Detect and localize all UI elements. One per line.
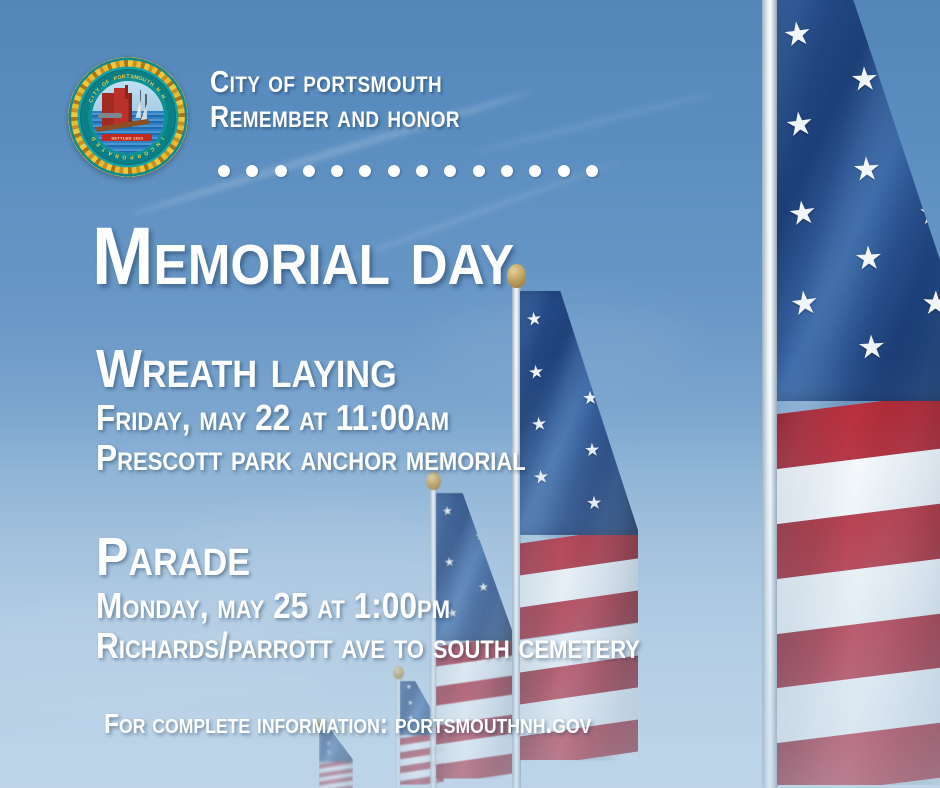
flag-stripes bbox=[777, 401, 940, 785]
flag-star: ★ bbox=[786, 196, 819, 232]
american-flag: ★★★★★★★★★★★★★★★★ bbox=[777, 0, 940, 785]
divider-dot bbox=[529, 165, 541, 177]
header-text-block: City of portsmouth remember and honor bbox=[210, 64, 630, 134]
header-line-1: City of portsmouth bbox=[210, 64, 571, 99]
flag-star: ★ bbox=[853, 241, 884, 275]
flag-star: ★ bbox=[586, 494, 603, 513]
flag-star: ★ bbox=[346, 741, 351, 747]
flag-star: ★ bbox=[632, 362, 649, 381]
flag-star: ★ bbox=[525, 309, 543, 329]
dotted-divider bbox=[218, 165, 598, 177]
memorial-day-poster: ★★★★★★★★★★★★★★★★★★★★★★★★★★★★★★★★★★★★★★★★… bbox=[0, 0, 940, 788]
flag-star: ★ bbox=[921, 286, 940, 319]
flag-star: ★ bbox=[407, 701, 413, 708]
divider-dot bbox=[444, 165, 456, 177]
city-seal: CITY OF PORTSMOUTH N.H.INCORPORATED SETT… bbox=[68, 57, 188, 177]
flag-star: ★ bbox=[327, 751, 332, 757]
flag-star: ★ bbox=[441, 504, 453, 517]
divider-dot bbox=[586, 165, 598, 177]
seal-ring-char: P bbox=[130, 154, 134, 160]
flagpole-finial bbox=[393, 666, 404, 679]
flag-star: ★ bbox=[630, 310, 647, 329]
section-detail-location: Richards/Parrott Ave to South Cemetery bbox=[96, 626, 640, 666]
flag-canton: ★★★★★★★★★★★★★★★★ bbox=[777, 0, 940, 401]
seal-locomotive bbox=[98, 113, 122, 119]
seal-chimney bbox=[125, 85, 128, 99]
page-title: Memorial Day bbox=[92, 214, 514, 300]
flag-star: ★ bbox=[406, 685, 413, 693]
seal-banner-text: SETTLED 1623 bbox=[102, 135, 152, 140]
section-title: Parade bbox=[96, 528, 652, 586]
flag-star: ★ bbox=[788, 285, 821, 321]
flag-star: ★ bbox=[918, 197, 940, 230]
section-detail-location: Prescott Park Anchor Memorial bbox=[96, 438, 526, 478]
divider-dot bbox=[331, 165, 343, 177]
divider-dot bbox=[275, 165, 287, 177]
flag-stripes bbox=[319, 762, 353, 788]
flag-star: ★ bbox=[849, 62, 880, 96]
divider-dot bbox=[501, 165, 513, 177]
flag-star: ★ bbox=[916, 108, 940, 141]
seal-ring-char: O bbox=[122, 154, 127, 160]
seal-settled-banner: SETTLED 1623 bbox=[102, 134, 152, 141]
flag-star: ★ bbox=[637, 468, 654, 487]
divider-dot bbox=[388, 165, 400, 177]
flag-star: ★ bbox=[326, 742, 331, 747]
seal-ring-char: R bbox=[136, 152, 141, 159]
seal-vignette: SETTLED 1623 bbox=[92, 81, 164, 153]
section-parade: Parade Monday, May 25 at 1:00pm Richards… bbox=[96, 528, 714, 666]
footer-info: For complete information: portsmouthnh.g… bbox=[104, 708, 591, 740]
header-line-2: remember and honor bbox=[210, 99, 571, 134]
divider-dot bbox=[303, 165, 315, 177]
flag-star: ★ bbox=[784, 106, 817, 142]
section-detail-datetime: Friday, May 22 at 11:00am bbox=[96, 398, 526, 438]
flag-star: ★ bbox=[347, 751, 352, 757]
section-detail-datetime: Monday, May 25 at 1:00pm bbox=[96, 586, 640, 626]
divider-dot bbox=[416, 165, 428, 177]
flag-star: ★ bbox=[913, 18, 940, 51]
flagpole bbox=[762, 0, 778, 788]
section-title: Wreath laying bbox=[96, 340, 535, 398]
flag-star: ★ bbox=[781, 17, 814, 53]
flag-star: ★ bbox=[851, 152, 882, 186]
section-wreath-laying: Wreath laying Friday, May 22 at 11:00am … bbox=[96, 340, 584, 478]
divider-dot bbox=[218, 165, 230, 177]
flag-star: ★ bbox=[856, 331, 887, 365]
seal-ring-char: R bbox=[114, 152, 119, 159]
divider-dot bbox=[558, 165, 570, 177]
divider-dot bbox=[246, 165, 258, 177]
flag-star: ★ bbox=[584, 441, 601, 460]
divider-dot bbox=[359, 165, 371, 177]
flag-star: ★ bbox=[635, 415, 652, 434]
divider-dot bbox=[473, 165, 485, 177]
